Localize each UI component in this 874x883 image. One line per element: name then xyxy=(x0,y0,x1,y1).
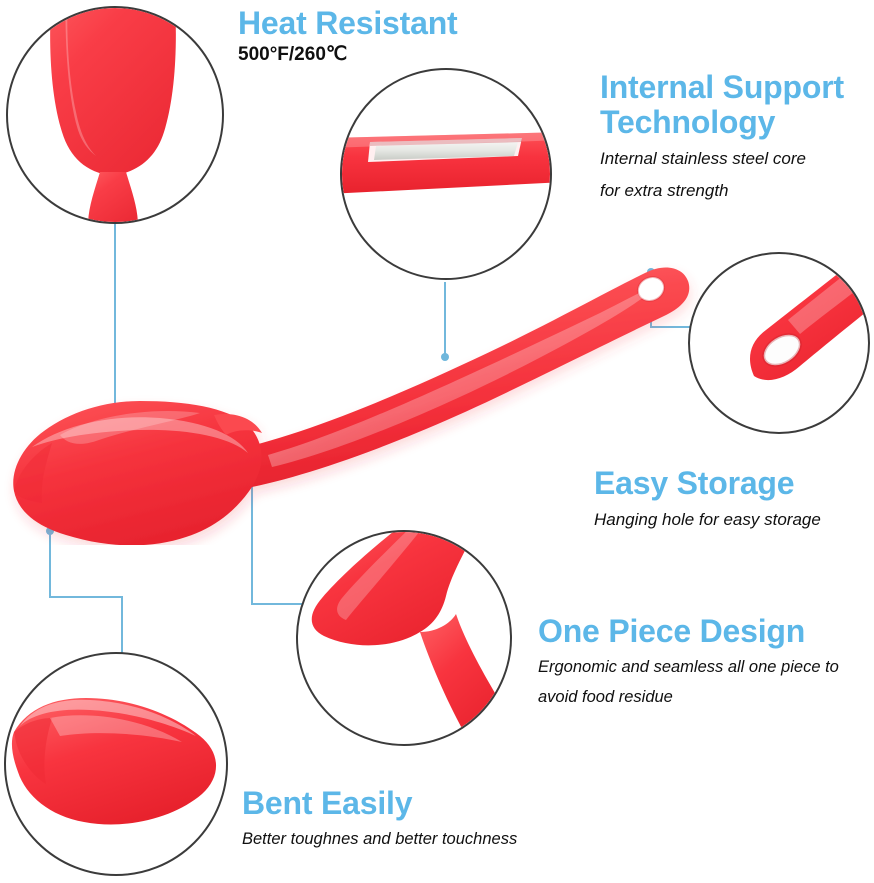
spatula-body xyxy=(13,267,689,545)
heat-resistant-spec: 500°F/260℃ xyxy=(238,43,458,66)
bubble-steel-core xyxy=(340,68,552,280)
bent-easily-title: Bent Easily xyxy=(242,786,517,821)
internal-support-title-line1: Internal Support xyxy=(600,70,874,105)
callout-bent-easily: Bent Easily Better toughnes and better t… xyxy=(242,786,517,854)
bubble-one-piece-art xyxy=(298,532,510,744)
bubble-hanging-hole xyxy=(688,252,870,434)
bent-easily-desc-line1: Better toughnes and better touchness xyxy=(242,824,517,855)
bubble-steel-core-art xyxy=(342,70,550,278)
product-infographic: Heat Resistant 500°F/260℃ Internal Suppo… xyxy=(0,0,874,883)
bubble-one-piece-join xyxy=(296,530,512,746)
bubble-blade-head-art xyxy=(8,8,222,222)
one-piece-desc-line1: Ergonomic and seamless all one piece to xyxy=(538,652,839,683)
blade-head-stem xyxy=(88,172,138,222)
callout-internal-support: Internal Support Technology Internal sta… xyxy=(600,70,874,206)
one-piece-desc-line2: avoid food residue xyxy=(538,682,839,713)
callout-heat-resistant: Heat Resistant 500°F/260℃ xyxy=(238,6,458,66)
spatula-product-image xyxy=(0,215,720,545)
one-piece-title: One Piece Design xyxy=(538,614,839,649)
blade-head-zoom xyxy=(50,8,176,176)
internal-support-desc-line2: for extra strength xyxy=(600,175,874,206)
internal-support-title-line2: Technology xyxy=(600,105,874,140)
bubble-bent-blade xyxy=(4,652,228,876)
leader-line-one-piece-h xyxy=(251,603,303,605)
bubble-blade-head xyxy=(6,6,224,224)
leader-line-bent-easily-h xyxy=(49,596,123,598)
internal-support-desc-line1: Internal stainless steel core xyxy=(600,143,874,174)
heat-resistant-title: Heat Resistant xyxy=(238,6,458,41)
spatula-svg xyxy=(0,215,720,545)
bubble-bent-blade-art xyxy=(6,654,226,874)
callout-one-piece-design: One Piece Design Ergonomic and seamless … xyxy=(538,614,839,713)
handle-join-zoom xyxy=(420,614,510,732)
bubble-hanging-hole-art xyxy=(690,254,868,432)
leader-line-bent-easily-v2 xyxy=(121,596,123,658)
